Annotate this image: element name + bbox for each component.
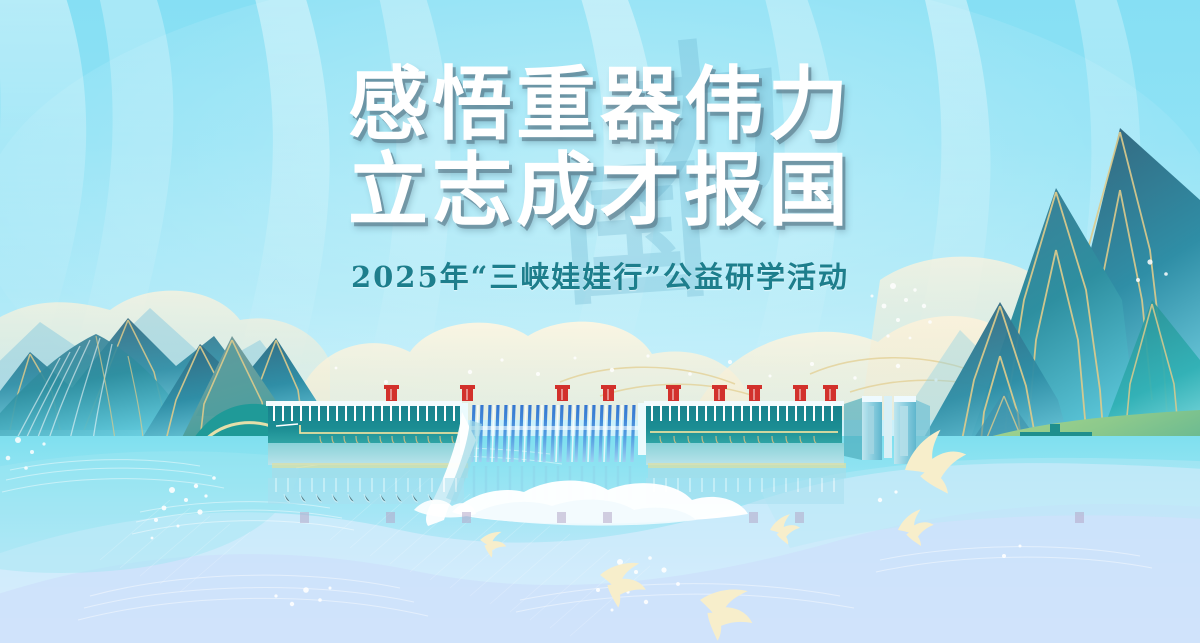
title-line-2: 立志成才报国 (0, 148, 1200, 234)
dam-cranes (384, 385, 838, 401)
swallow-icon (689, 577, 762, 643)
swallow-icon (897, 425, 976, 504)
title-block: 感悟重器伟力 立志成才报国 2025年“三峡娃娃行”公益研学活动 (0, 62, 1200, 296)
title-line-1: 感悟重器伟力 (0, 62, 1200, 148)
swallow-icon (895, 507, 938, 550)
swallow-icon (477, 528, 508, 559)
swallow-icon (593, 555, 651, 613)
swallow-icon (768, 513, 802, 547)
subtitle: 2025年“三峡娃娃行”公益研学活动 (0, 254, 1200, 296)
promo-banner: 力 国 (0, 0, 1200, 643)
